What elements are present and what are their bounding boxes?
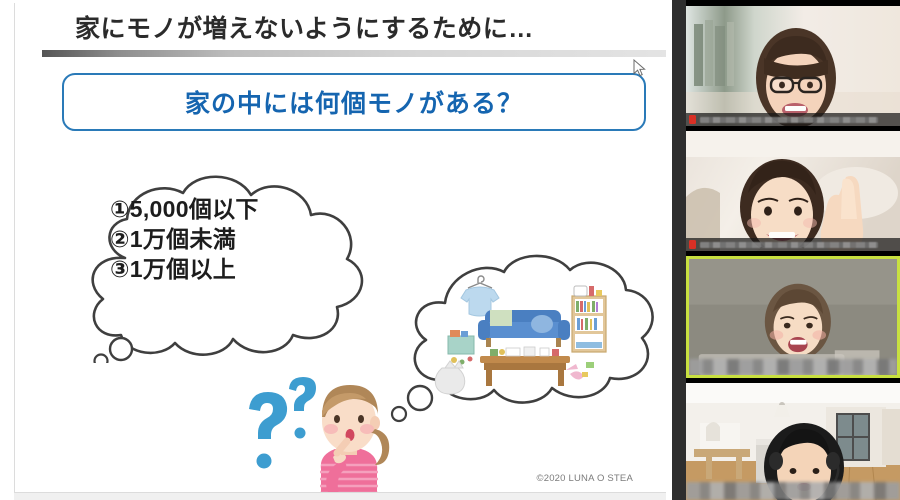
video-tile-participant-4[interactable] (686, 383, 900, 500)
video-tile-participant-3[interactable] (686, 256, 900, 378)
question-mark-icons (249, 377, 316, 469)
participant-2-name-redacted (700, 242, 878, 248)
question-callout-box: 家の中には何個モノがある？ (62, 73, 646, 131)
microphone-muted-icon (689, 240, 696, 249)
answer-option-3: ③1万個以上 (110, 255, 370, 285)
thought-bubble-icon (390, 248, 665, 423)
presentation-slide: 家にモノが増えないようにするために… 家の中には何個モノがある？ ①5,000個… (14, 3, 666, 493)
screen-share-meeting-view: 家にモノが増えないようにするために… 家の中には何個モノがある？ ①5,000個… (0, 0, 900, 500)
thinking-person-icon (225, 371, 395, 493)
participant-2-video-feed (686, 131, 900, 251)
bookshelf-illustration (572, 286, 606, 352)
participant-3-video-feed (689, 259, 897, 375)
participant-1-name-bar (686, 113, 900, 126)
answer-option-2: ②1万個未満 (110, 225, 370, 255)
video-tile-participant-2[interactable] (686, 131, 900, 251)
participant-2-name-bar (686, 238, 900, 251)
participant-3-name-redacted (689, 359, 897, 375)
answer-options-cloud: ①5,000個以下 ②1万個未満 ③1万個以上 (65, 163, 405, 363)
person-body (320, 385, 389, 493)
mouse-pointer-icon (633, 59, 647, 77)
video-tile-participant-1[interactable] (686, 6, 900, 126)
answer-option-1: ①5,000個以下 (110, 195, 370, 225)
answer-options-list: ①5,000個以下 ②1万個未満 ③1万個以上 (110, 195, 370, 285)
participant-video-strip (686, 0, 900, 500)
slide-title: 家にモノが増えないようにするために… (75, 11, 635, 47)
slide-video-divider (672, 0, 686, 500)
copyright-notice: ©2020 LUNA O STEA (537, 473, 633, 484)
question-text: 家の中には何個モノがある？ (185, 84, 523, 120)
participant-1-name-redacted (700, 117, 878, 123)
shared-screen-slide-area: 家にモノが増えないようにするために… 家の中には何個モノがある？ ①5,000個… (0, 0, 672, 500)
participant-4-name-redacted (686, 482, 900, 500)
microphone-muted-icon (689, 115, 696, 124)
participant-1-video-feed (686, 6, 900, 126)
title-divider-rule (42, 50, 666, 57)
cluttered-room-thought-bubble (390, 248, 665, 423)
slide-bottom-strip (14, 493, 666, 500)
thinking-woman-illustration (225, 371, 395, 493)
